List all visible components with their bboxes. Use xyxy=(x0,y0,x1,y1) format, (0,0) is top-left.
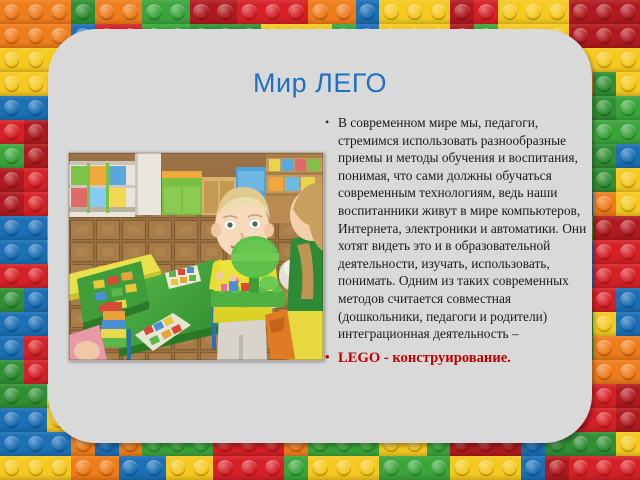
lego-brick-stud xyxy=(0,96,24,120)
lego-brick-stud xyxy=(0,360,24,384)
lego-brick-stud xyxy=(0,120,24,144)
lego-brick-stud xyxy=(332,0,356,24)
lego-brick-stud xyxy=(379,456,403,480)
lego-brick-stud xyxy=(616,96,640,120)
lego-brick-stud xyxy=(593,384,617,408)
lego-brick-stud xyxy=(593,24,617,48)
lego-brick-stud xyxy=(356,456,380,480)
lego-brick-stud xyxy=(47,0,71,24)
lego-brick-stud xyxy=(24,0,48,24)
lego-brick-stud xyxy=(593,48,617,72)
lego-brick-stud xyxy=(332,456,356,480)
lego-brick-stud xyxy=(593,360,617,384)
lego-brick-stud xyxy=(0,144,24,168)
lego-brick-stud xyxy=(616,408,640,432)
lego-brick-stud xyxy=(0,240,24,264)
list-item: В современном мире мы, педагоги, стремим… xyxy=(325,114,592,343)
lego-brick-stud xyxy=(0,432,24,456)
lego-brick-stud xyxy=(0,336,24,360)
lego-brick-stud xyxy=(166,0,190,24)
lego-brick-stud xyxy=(24,336,48,360)
lego-brick-stud xyxy=(0,24,24,48)
lego-brick-stud xyxy=(24,312,48,336)
lego-brick-stud xyxy=(616,312,640,336)
lego-brick-stud xyxy=(24,456,48,480)
lego-brick-stud xyxy=(593,0,617,24)
lego-brick-stud xyxy=(403,456,427,480)
lego-brick-stud xyxy=(593,336,617,360)
lego-brick-stud xyxy=(0,288,24,312)
lego-brick-stud xyxy=(593,288,617,312)
lego-brick-stud xyxy=(0,0,24,24)
lego-brick-stud xyxy=(0,384,24,408)
lego-brick-stud xyxy=(142,456,166,480)
lego-brick-stud xyxy=(213,456,237,480)
page-title: Мир ЛЕГО xyxy=(48,69,592,99)
lego-brick-stud xyxy=(616,360,640,384)
lego-brick-stud xyxy=(379,0,403,24)
lego-brick-stud xyxy=(474,0,498,24)
lego-brick-stud xyxy=(24,360,48,384)
lego-brick-stud xyxy=(24,192,48,216)
lego-brick-stud xyxy=(616,24,640,48)
lego-brick-stud xyxy=(24,24,48,48)
lego-brick-stud xyxy=(616,432,640,456)
lego-brick-stud xyxy=(356,0,380,24)
lego-brick-stud xyxy=(0,192,24,216)
lego-brick-stud xyxy=(0,72,24,96)
lego-brick-stud xyxy=(616,216,640,240)
lego-brick-stud xyxy=(569,0,593,24)
body-text-block: В современном мире мы, педагоги, стремим… xyxy=(325,114,592,370)
lego-brick-stud xyxy=(261,0,285,24)
lego-brick-stud xyxy=(498,456,522,480)
lego-brick-stud xyxy=(593,216,617,240)
classroom-photo xyxy=(68,152,324,361)
lego-brick-stud xyxy=(24,96,48,120)
lego-brick-stud xyxy=(569,432,593,456)
lego-brick-stud xyxy=(616,72,640,96)
lego-brick-stud xyxy=(450,456,474,480)
lego-brick-stud xyxy=(545,456,569,480)
lego-brick-stud xyxy=(616,120,640,144)
lego-brick-stud xyxy=(593,312,617,336)
lego-brick-stud xyxy=(119,456,143,480)
list-item-accent: LEGO - конструирование. xyxy=(325,348,592,368)
lego-brick-stud xyxy=(616,168,640,192)
lego-brick-stud xyxy=(616,0,640,24)
lego-brick-stud xyxy=(47,432,71,456)
lego-brick-stud xyxy=(616,240,640,264)
lego-brick-stud xyxy=(593,120,617,144)
lego-brick-stud xyxy=(71,0,95,24)
lego-brick-stud xyxy=(166,456,190,480)
lego-brick-stud xyxy=(119,0,143,24)
lego-brick-stud xyxy=(0,264,24,288)
lego-brick-stud xyxy=(284,456,308,480)
lego-brick-stud xyxy=(24,432,48,456)
lego-brick-stud xyxy=(308,0,332,24)
lego-brick-stud xyxy=(427,0,451,24)
lego-brick-stud xyxy=(308,456,332,480)
lego-brick-stud xyxy=(616,192,640,216)
lego-brick-stud xyxy=(593,168,617,192)
lego-brick-stud xyxy=(24,48,48,72)
lego-brick-stud xyxy=(0,48,24,72)
lego-brick-stud xyxy=(24,288,48,312)
lego-brick-stud xyxy=(95,0,119,24)
lego-brick-stud xyxy=(593,144,617,168)
lego-brick-stud xyxy=(24,408,48,432)
lego-brick-stud xyxy=(95,456,119,480)
lego-brick-stud xyxy=(616,384,640,408)
lego-brick-stud xyxy=(261,456,285,480)
lego-brick-stud xyxy=(142,0,166,24)
content-panel: Мир ЛЕГО xyxy=(48,29,592,443)
lego-brick-stud xyxy=(190,0,214,24)
lego-brick-stud xyxy=(474,456,498,480)
lego-brick-stud xyxy=(24,72,48,96)
lego-brick-stud xyxy=(569,456,593,480)
lego-brick-stud xyxy=(24,384,48,408)
lego-brick-stud xyxy=(0,216,24,240)
lego-brick-stud xyxy=(24,144,48,168)
lego-brick-stud xyxy=(593,240,617,264)
lego-brick-stud xyxy=(24,120,48,144)
lego-brick-stud xyxy=(498,0,522,24)
lego-brick-stud xyxy=(0,312,24,336)
lego-brick-stud xyxy=(593,264,617,288)
lego-brick-stud xyxy=(616,288,640,312)
lego-brick-stud xyxy=(450,0,474,24)
lego-brick-stud xyxy=(521,0,545,24)
lego-brick-stud xyxy=(190,456,214,480)
lego-brick-stud xyxy=(616,144,640,168)
lego-brick-stud xyxy=(521,456,545,480)
lego-brick-stud xyxy=(403,0,427,24)
lego-brick-stud xyxy=(284,0,308,24)
lego-brick-stud xyxy=(0,456,24,480)
lego-brick-stud xyxy=(616,48,640,72)
lego-brick-stud xyxy=(71,456,95,480)
lego-brick-stud xyxy=(24,168,48,192)
lego-brick-stud xyxy=(545,0,569,24)
lego-brick-stud xyxy=(213,0,237,24)
lego-brick-stud xyxy=(616,264,640,288)
lego-brick-stud xyxy=(593,192,617,216)
lego-brick-stud xyxy=(0,408,24,432)
lego-brick-stud xyxy=(0,168,24,192)
lego-brick-stud xyxy=(593,72,617,96)
lego-brick-stud xyxy=(237,456,261,480)
lego-brick-stud xyxy=(616,456,640,480)
lego-brick-stud xyxy=(427,456,451,480)
lego-brick-stud xyxy=(24,264,48,288)
lego-brick-stud xyxy=(593,456,617,480)
lego-brick-stud xyxy=(593,96,617,120)
lego-brick-stud xyxy=(237,0,261,24)
bullet-list: В современном мире мы, педагоги, стремим… xyxy=(325,114,592,368)
photo-illustration xyxy=(69,153,323,360)
slide-root: Мир ЛЕГО xyxy=(0,0,640,480)
lego-brick-stud xyxy=(47,456,71,480)
lego-brick-stud xyxy=(24,216,48,240)
lego-brick-stud xyxy=(616,336,640,360)
lego-brick-stud xyxy=(593,408,617,432)
lego-brick-stud xyxy=(24,240,48,264)
lego-brick-stud xyxy=(593,432,617,456)
